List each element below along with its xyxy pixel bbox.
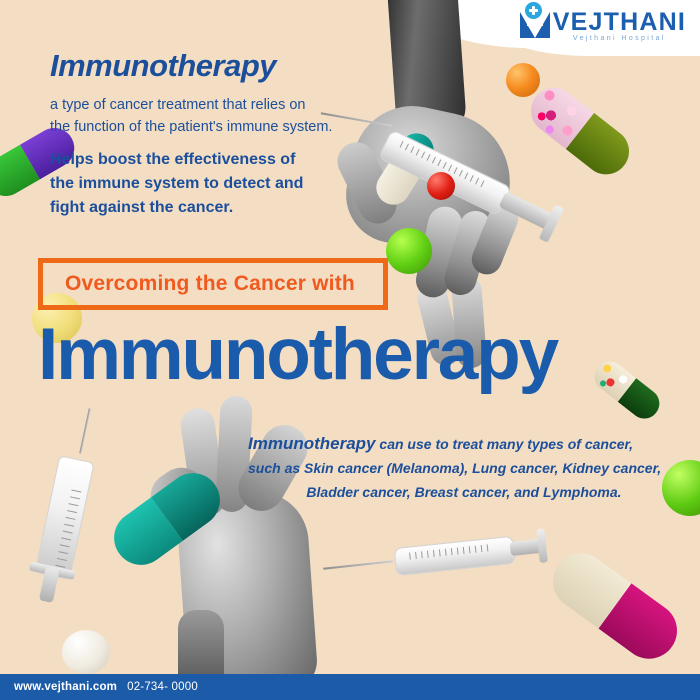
medical-cross-icon	[525, 2, 542, 19]
types-line-3: Bladder cancer, Breast cancer, and Lymph…	[248, 480, 680, 504]
cta-banner: Overcoming the Cancer with	[38, 258, 388, 310]
intro-bold-line-3: fight against the cancer.	[50, 196, 370, 220]
types-line-1-rest: can use to treat many types of cancer,	[376, 436, 634, 452]
types-text-block: Immunotherapy can use to treat many type…	[248, 432, 680, 504]
intro-text-block: Immunotherapy a type of cancer treatment…	[50, 48, 370, 220]
tablet-red	[427, 172, 455, 200]
vejthani-logo[interactable]: VEJTHANI Vejthani Hospital	[518, 6, 686, 42]
footer-bar: www.vejthani.com 02-734- 0000	[0, 674, 700, 700]
logo-v-mark	[518, 6, 552, 40]
intro-bold-line-1: Helps boost the effectiveness of	[50, 148, 370, 172]
tablet-green-small	[386, 228, 432, 274]
tablet-orange	[506, 63, 540, 97]
intro-bold-line-2: the immune system to detect and	[50, 172, 370, 196]
footer-website[interactable]: www.vejthani.com	[14, 681, 117, 693]
capsule-magenta-cream	[542, 542, 688, 670]
page-title: Immunotherapy	[38, 316, 557, 394]
logo-tagline: Vejthani Hospital	[553, 35, 686, 42]
types-line-2: such as Skin cancer (Melanoma), Lung can…	[248, 456, 680, 480]
syringe-horizontal-center	[322, 519, 547, 602]
capsule-bead-darkgreen	[589, 355, 666, 424]
immunotherapy-poster: VEJTHANI Vejthani Hospital	[0, 0, 700, 700]
footer-phone[interactable]: 02-734- 0000	[127, 681, 198, 693]
syringe-vertical-left	[12, 435, 118, 626]
types-lead-word: Immunotherapy	[248, 434, 376, 453]
intro-heading: Immunotherapy	[50, 48, 370, 84]
cta-label: Overcoming the Cancer with	[65, 272, 355, 296]
tablet-white	[62, 630, 110, 674]
intro-lead-line-1: a type of cancer treatment that relies o…	[50, 94, 370, 116]
logo-name: VEJTHANI	[553, 10, 686, 34]
intro-lead-line-2: the function of the patient's immune sys…	[50, 116, 370, 138]
